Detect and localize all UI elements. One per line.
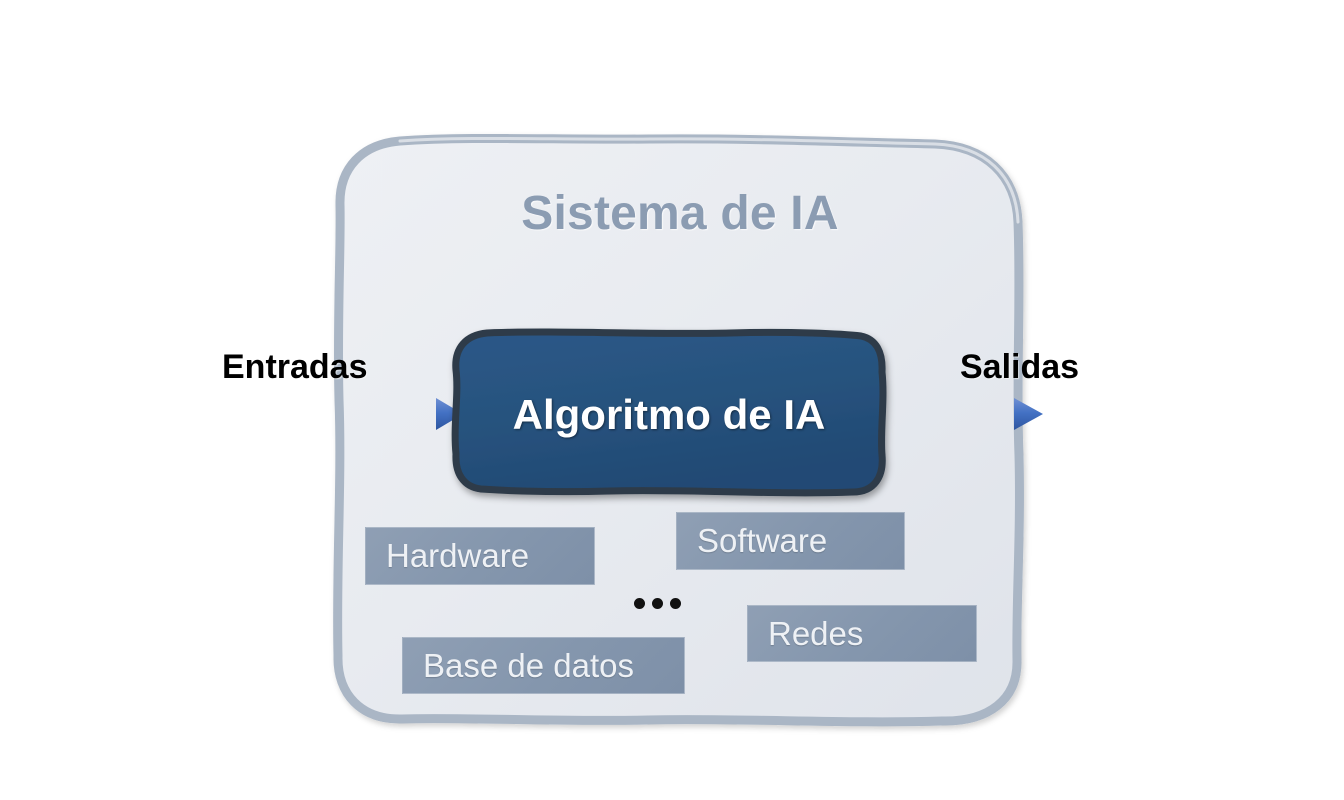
component-base-de-datos: Base de datos — [402, 637, 685, 694]
ellipsis-dot — [652, 598, 663, 609]
input-label: Entradas — [222, 348, 368, 387]
component-hardware: Hardware — [365, 527, 595, 585]
component-software: Software — [676, 512, 905, 570]
component-redes: Redes — [747, 605, 977, 662]
diagram-canvas: Sistema de IA Algoritmo de IA Entradas S… — [0, 0, 1344, 800]
more-components-ellipsis-icon — [634, 598, 681, 609]
algorithm-core-box — [455, 332, 883, 493]
ellipsis-dot — [634, 598, 645, 609]
system-title: Sistema de IA — [430, 186, 930, 241]
output-label: Salidas — [960, 348, 1079, 387]
ellipsis-dot — [670, 598, 681, 609]
